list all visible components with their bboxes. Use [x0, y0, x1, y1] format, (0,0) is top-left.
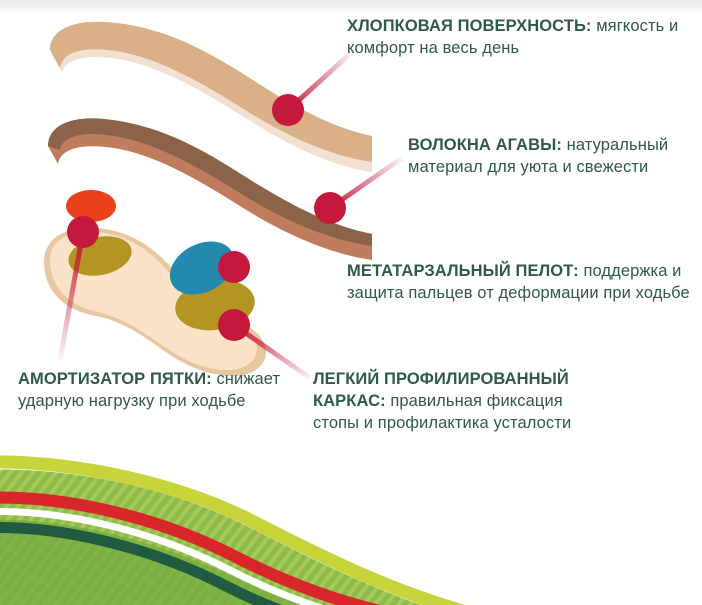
callout-agave-fibers-title: ВОЛОКНА АГАВЫ:	[408, 136, 562, 154]
callout-metatarsal-pad: МЕТАТАРЗАЛЬНЫЙ ПЕЛОТ: поддержка и защита…	[347, 261, 697, 305]
callout-agave-fibers: ВОЛОКНА АГАВЫ: натуральный материал для …	[408, 135, 698, 179]
dot-agave-fibers	[314, 192, 346, 224]
callout-metatarsal-pad-title: МЕТАТАРЗАЛЬНЫЙ ПЕЛОТ:	[347, 262, 579, 280]
callout-cotton-surface: ХЛОПКОВАЯ ПОВЕРХНОСТЬ: мягкость и комфор…	[347, 16, 687, 60]
callout-heel-shock-absorber-title: АМОРТИЗАТОР ПЯТКИ:	[18, 370, 212, 388]
dot-heel-shock-absorber	[67, 216, 99, 248]
heel-shock-pad	[66, 190, 116, 222]
green-field-swoosh	[0, 462, 474, 605]
dot-metatarsal-pad	[218, 251, 250, 283]
infographic-canvas: ХЛОПКОВАЯ ПОВЕРХНОСТЬ: мягкость и комфор…	[0, 0, 702, 605]
dot-light-profiled-frame	[218, 309, 250, 341]
callout-cotton-surface-title: ХЛОПКОВАЯ ПОВЕРХНОСТЬ:	[347, 17, 592, 35]
callout-heel-shock-absorber: АМОРТИЗАТОР ПЯТКИ: снижает ударную нагру…	[18, 369, 308, 413]
callout-light-profiled-frame: ЛЕГКИЙ ПРОФИЛИРОВАННЫЙ КАРКАС: правильна…	[313, 369, 613, 435]
dot-cotton-surface	[272, 94, 304, 126]
cotton-top-layer	[50, 22, 372, 172]
